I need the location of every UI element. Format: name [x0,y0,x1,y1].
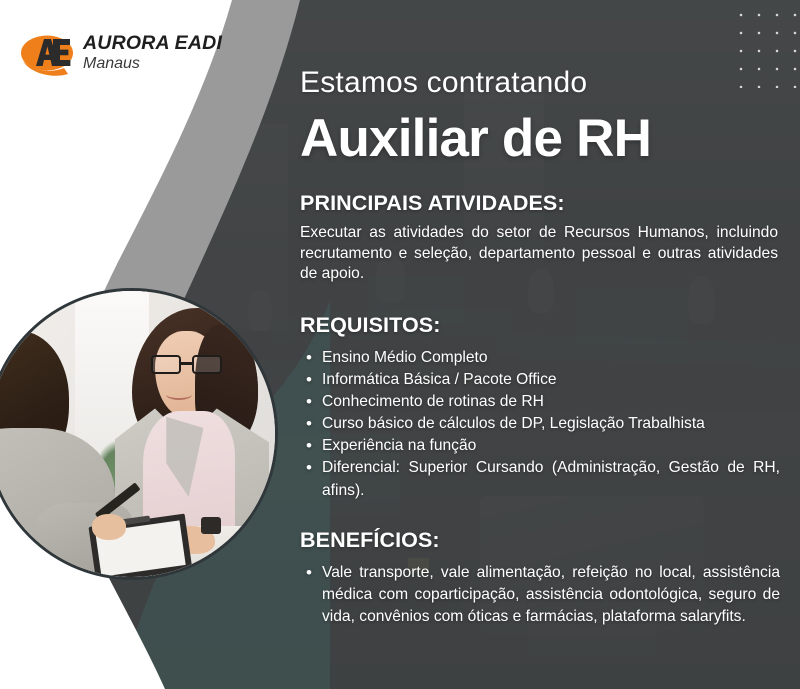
section-requisitos: REQUISITOS: Ensino Médio Completo Inform… [296,313,788,502]
interview-photo-icon [0,288,278,580]
brand-name: AURORA EADI [83,34,222,54]
job-title: Auxiliar de RH [300,112,788,165]
poster-content: Estamos contratando Auxiliar de RH PRINC… [296,0,788,628]
list-item: Ensino Médio Completo [300,347,780,369]
list-item: Curso básico de cálculos de DP, Legislaç… [300,413,780,435]
ae-monogram-icon [20,30,74,76]
section-beneficios: BENEFÍCIOS: Vale transporte, vale alimen… [296,528,788,628]
brand-location: Manaus [83,56,222,72]
beneficios-list: Vale transporte, vale alimentação, refei… [296,562,788,628]
hero-kicker: Estamos contratando [300,68,788,98]
section-atividades: PRINCIPAIS ATIVIDADES: Executar as ativi… [296,191,788,285]
section-title-requisitos: REQUISITOS: [300,313,788,338]
list-item: Diferencial: Superior Cursando (Administ… [300,457,780,501]
requisitos-list: Ensino Médio Completo Informática Básica… [296,347,788,502]
section-title-beneficios: BENEFÍCIOS: [300,528,788,553]
brand-logo: AURORA EADI Manaus [20,30,222,76]
job-posting-poster: AURORA EADI Manaus [0,0,800,689]
list-item: Experiência na função [300,435,780,457]
list-item: Vale transporte, vale alimentação, refei… [300,562,780,628]
list-item: Conhecimento de rotinas de RH [300,391,780,413]
section-body-atividades: Executar as atividades do setor de Recur… [300,223,778,285]
list-item: Informática Básica / Pacote Office [300,369,780,391]
section-title-atividades: PRINCIPAIS ATIVIDADES: [300,191,788,216]
